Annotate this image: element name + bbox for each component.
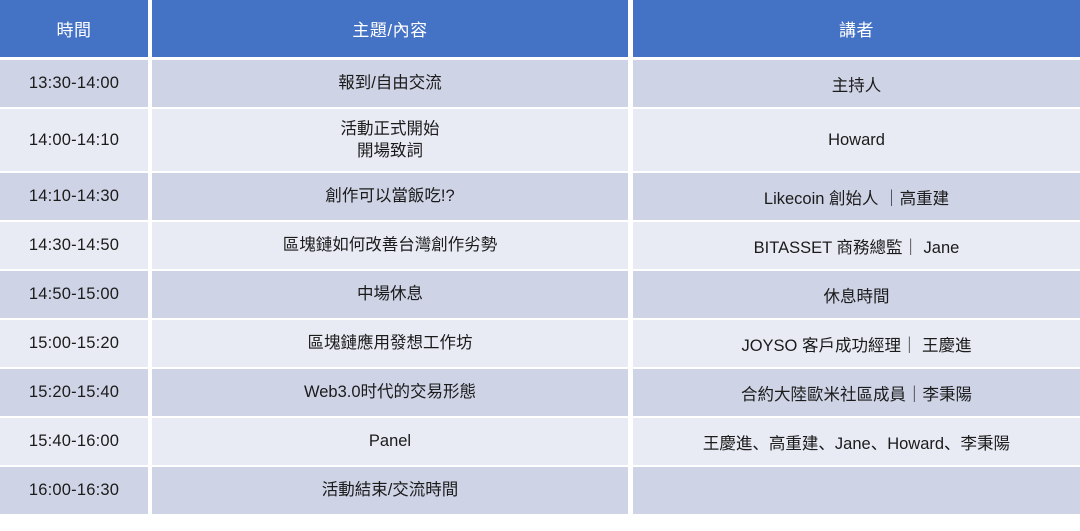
cell-speaker: 合約大陸歐米社區成員｜李秉陽 (633, 369, 1080, 416)
table-row: 13:30-14:00報到/自由交流主持人 (0, 60, 1080, 107)
cell-time: 13:30-14:00 (0, 60, 148, 107)
cell-topic: Web3.0时代的交易形態 (152, 369, 628, 416)
table-row: 15:00-15:20區塊鏈應用發想工作坊JOYSO 客戶成功經理｜ 王慶進 (0, 320, 1080, 367)
schedule-table: 時間 主題/內容 講者 13:30-14:00報到/自由交流主持人14:00-1… (0, 0, 1080, 514)
cell-topic-line-1: 中場休息 (152, 283, 628, 305)
cell-topic-line-1: 報到/自由交流 (152, 72, 628, 94)
cell-topic-line-1: 創作可以當飯吃!? (152, 185, 628, 207)
cell-time: 14:50-15:00 (0, 271, 148, 318)
cell-time: 14:10-14:30 (0, 173, 148, 220)
table-row: 14:10-14:30創作可以當飯吃!?Likecoin 創始人 ｜高重建 (0, 173, 1080, 220)
cell-topic: 活動結束/交流時間 (152, 467, 628, 514)
cell-time: 15:20-15:40 (0, 369, 148, 416)
table-row: 15:40-16:00Panel王慶進、高重建、Jane、Howard、李秉陽 (0, 418, 1080, 465)
cell-time: 14:00-14:10 (0, 109, 148, 171)
cell-time: 15:00-15:20 (0, 320, 148, 367)
header-row: 時間 主題/內容 講者 (0, 0, 1080, 57)
table-row: 14:50-15:00中場休息休息時間 (0, 271, 1080, 318)
cell-speaker: 休息時間 (633, 271, 1080, 318)
cell-topic: Panel (152, 418, 628, 465)
cell-topic-line-1: 活動正式開始 (152, 118, 628, 140)
column-header-topic: 主題/內容 (152, 0, 628, 57)
cell-topic: 區塊鏈如何改善台灣創作劣勢 (152, 222, 628, 269)
cell-topic: 活動正式開始開場致詞 (152, 109, 628, 171)
table-body: 13:30-14:00報到/自由交流主持人14:00-14:10活動正式開始開場… (0, 57, 1080, 514)
cell-topic-line-1: 區塊鏈應用發想工作坊 (152, 332, 628, 354)
cell-speaker: 主持人 (633, 60, 1080, 107)
table-row: 15:20-15:40Web3.0时代的交易形態合約大陸歐米社區成員｜李秉陽 (0, 369, 1080, 416)
cell-speaker (633, 467, 1080, 514)
cell-speaker: JOYSO 客戶成功經理｜ 王慶進 (633, 320, 1080, 367)
cell-topic-line-1: Panel (152, 430, 628, 452)
cell-topic: 中場休息 (152, 271, 628, 318)
cell-time: 14:30-14:50 (0, 222, 148, 269)
cell-topic: 創作可以當飯吃!? (152, 173, 628, 220)
cell-speaker: Howard (633, 109, 1080, 171)
table-row: 16:00-16:30活動結束/交流時間 (0, 467, 1080, 514)
column-header-time: 時間 (0, 0, 148, 57)
cell-topic: 區塊鏈應用發想工作坊 (152, 320, 628, 367)
table-header: 時間 主題/內容 講者 (0, 0, 1080, 57)
cell-time: 15:40-16:00 (0, 418, 148, 465)
cell-topic: 報到/自由交流 (152, 60, 628, 107)
column-header-speaker: 講者 (633, 0, 1080, 57)
cell-time: 16:00-16:30 (0, 467, 148, 514)
table-row: 14:00-14:10活動正式開始開場致詞Howard (0, 109, 1080, 171)
cell-speaker: BITASSET 商務總監｜ Jane (633, 222, 1080, 269)
cell-speaker: 王慶進、高重建、Jane、Howard、李秉陽 (633, 418, 1080, 465)
cell-speaker: Likecoin 創始人 ｜高重建 (633, 173, 1080, 220)
table-row: 14:30-14:50區塊鏈如何改善台灣創作劣勢BITASSET 商務總監｜ J… (0, 222, 1080, 269)
cell-topic-line-1: 活動結束/交流時間 (152, 479, 628, 501)
cell-topic-line-1: 區塊鏈如何改善台灣創作劣勢 (152, 234, 628, 256)
cell-topic-line-1: Web3.0时代的交易形態 (152, 381, 628, 403)
cell-topic-line-2: 開場致詞 (152, 140, 628, 162)
